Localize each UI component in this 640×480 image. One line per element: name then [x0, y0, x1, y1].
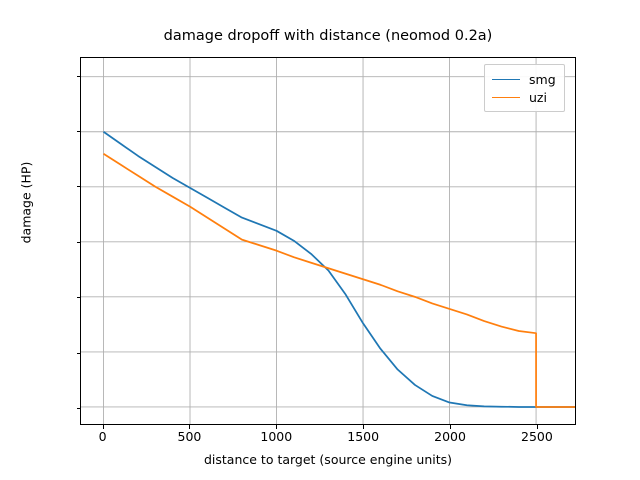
legend-item-uzi: uzi: [492, 88, 556, 106]
y-tick-mark: [77, 353, 81, 354]
x-tick-mark: [363, 425, 364, 429]
chart-title: damage dropoff with distance (neomod 0.2…: [80, 28, 576, 44]
x-tick-mark: [537, 425, 538, 429]
y-tick-mark: [77, 131, 81, 132]
x-axis-label: distance to target (source engine units): [80, 452, 576, 467]
matplotlib-figure: damage dropoff with distance (neomod 0.2…: [0, 0, 640, 480]
plot-axes: [80, 57, 576, 425]
chart-legend: smg uzi: [484, 64, 565, 112]
x-tick-label: 0: [68, 431, 138, 444]
x-tick-mark: [103, 425, 104, 429]
legend-label-uzi: uzi: [529, 91, 547, 104]
series-line-smg: [103, 132, 575, 407]
y-tick-mark: [77, 297, 81, 298]
x-tick-label: 500: [154, 431, 224, 444]
x-tick-label: 2500: [502, 431, 572, 444]
series-layer: [81, 58, 575, 424]
y-tick-mark: [77, 242, 81, 243]
legend-item-smg: smg: [492, 70, 556, 88]
y-tick-mark: [77, 186, 81, 187]
legend-swatch-smg: [492, 79, 520, 80]
x-tick-mark: [450, 425, 451, 429]
y-tick-mark: [77, 76, 81, 77]
x-tick-label: 1500: [328, 431, 398, 444]
series-line-uzi: [103, 154, 575, 407]
x-tick-label: 2000: [415, 431, 485, 444]
y-axis-label: damage (HP): [19, 103, 34, 303]
x-tick-mark: [276, 425, 277, 429]
legend-label-smg: smg: [529, 73, 556, 86]
x-tick-label: 1000: [241, 431, 311, 444]
legend-swatch-uzi: [492, 97, 520, 98]
x-tick-mark: [189, 425, 190, 429]
y-tick-mark: [77, 408, 81, 409]
